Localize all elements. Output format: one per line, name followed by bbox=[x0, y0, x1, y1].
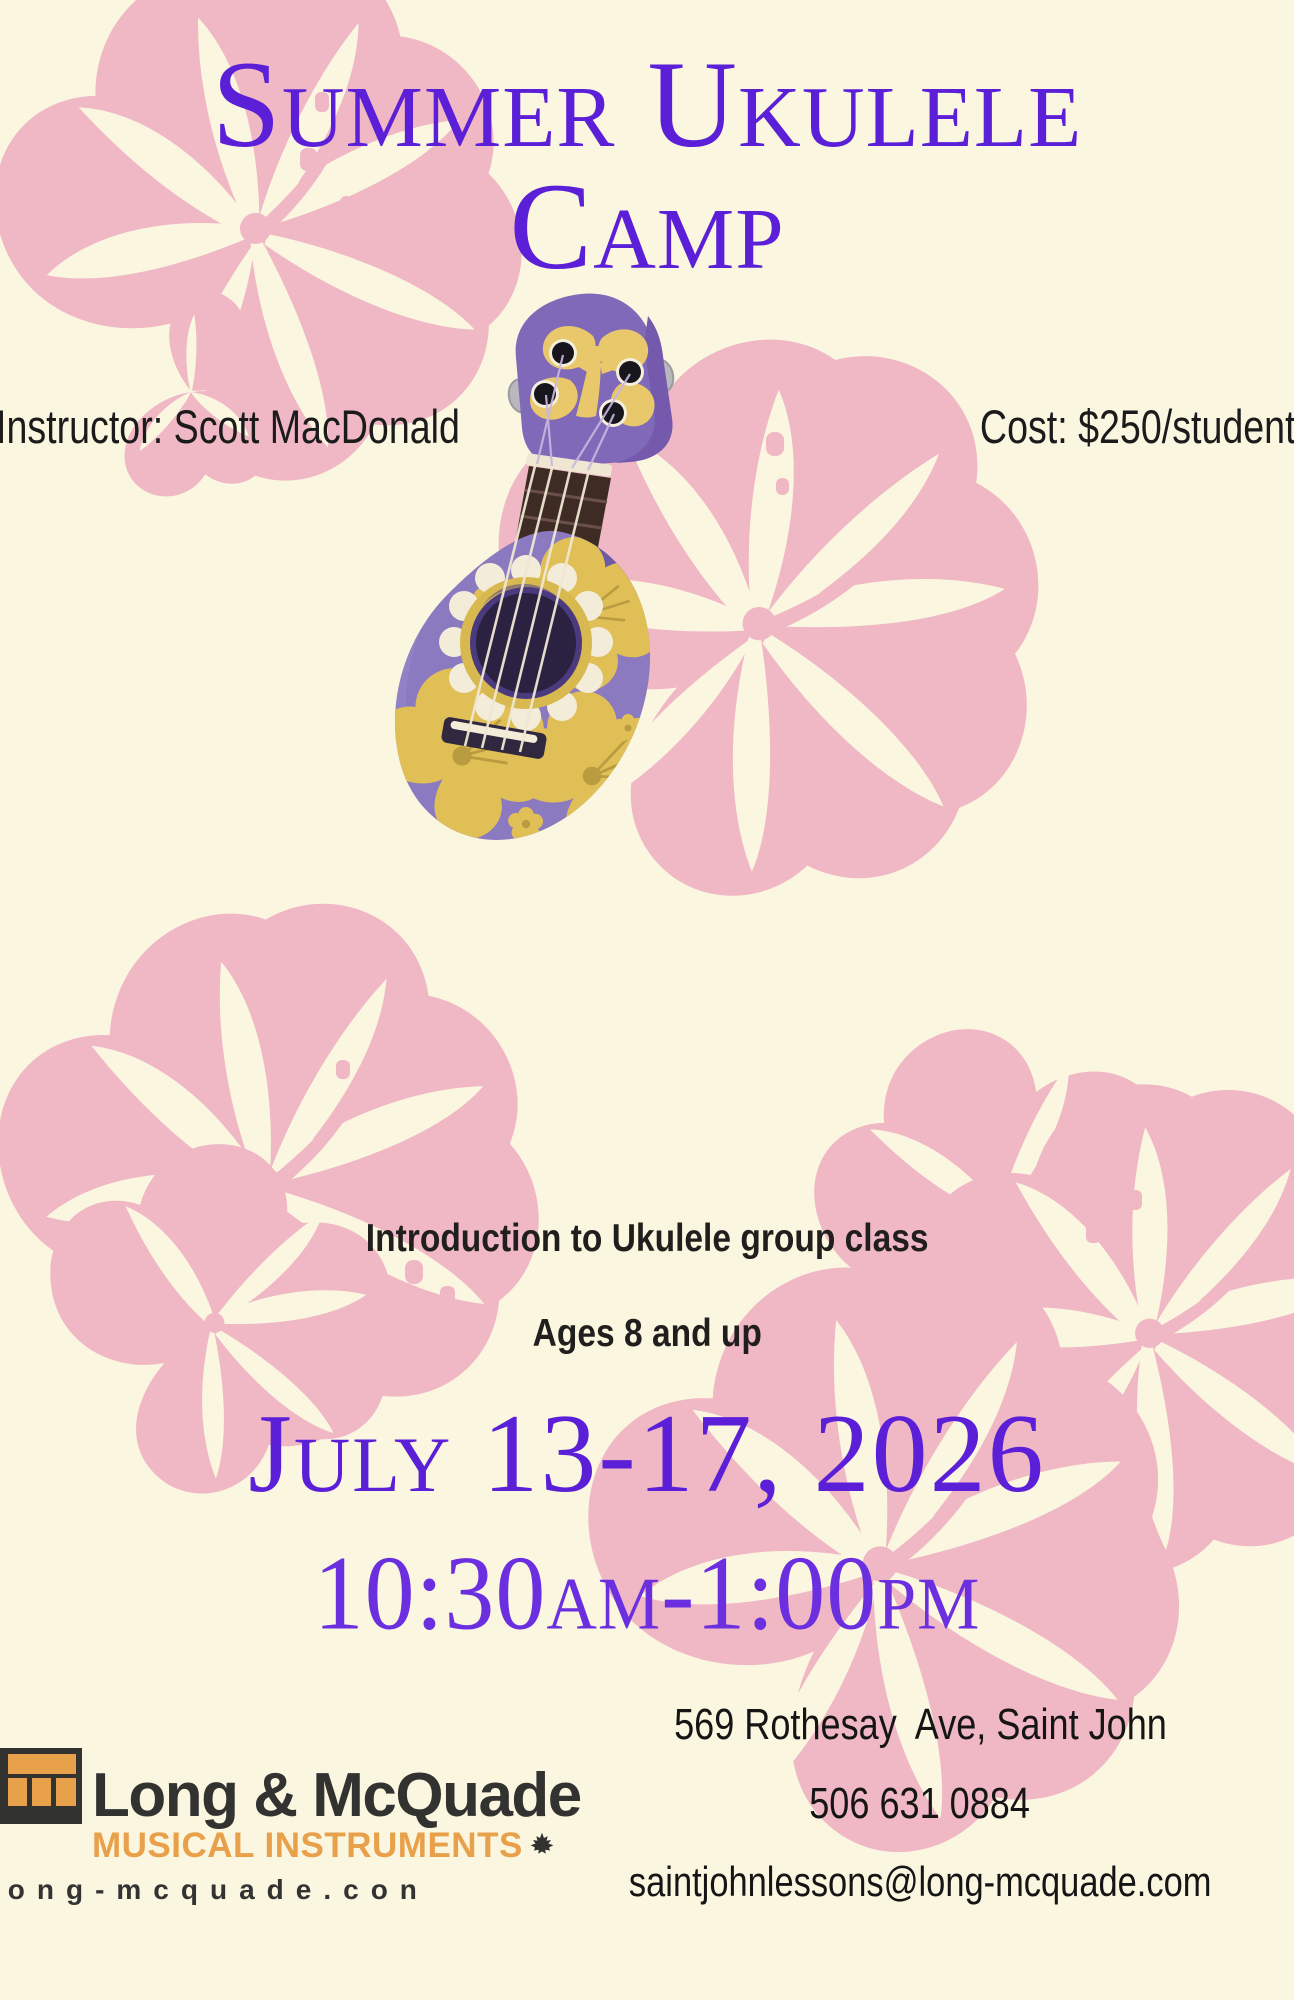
email-text[interactable]: saintjohnlessons@long-mcquade.com bbox=[629, 1858, 1211, 1906]
page-title: Summer Ukulele Camp bbox=[0, 44, 1294, 287]
logo-tagline: MUSICAL INSTRUMENTS bbox=[92, 1826, 523, 1866]
logo-wordmark: Long & McQuade bbox=[92, 1767, 581, 1824]
class-description-line: Introduction to Ukulele group class bbox=[0, 1217, 1294, 1261]
logo-website-url[interactable]: long-mcquade.con bbox=[0, 1874, 474, 1906]
age-requirement-text: Ages 8 and up bbox=[532, 1312, 761, 1356]
maple-leaf-icon bbox=[529, 1831, 555, 1861]
phone-line: 506 631 0884 bbox=[550, 1779, 1290, 1829]
email-line: saintjohnlessons@long-mcquade.com bbox=[550, 1858, 1290, 1906]
class-description-text: Introduction to Ukulele group class bbox=[366, 1217, 929, 1261]
instructor-label: Instructor: Scott MacDonald bbox=[0, 399, 460, 454]
poster: Summer Ukulele Camp Instructor: Scott Ma… bbox=[0, 0, 1294, 2000]
long-mcquade-mark-icon bbox=[0, 1748, 82, 1824]
address-text: 569 Rothesay Ave, Saint John bbox=[674, 1700, 1167, 1750]
address-line: 569 Rothesay Ave, Saint John bbox=[550, 1700, 1290, 1750]
camp-time: 10:30am-1:00pm bbox=[0, 1532, 1294, 1647]
age-requirement-line: Ages 8 and up bbox=[0, 1312, 1294, 1356]
camp-dates: July 13-17, 2026 bbox=[0, 1390, 1294, 1519]
camp-time-text: 10:30am-1:00pm bbox=[314, 1532, 981, 1654]
phone-text[interactable]: 506 631 0884 bbox=[810, 1779, 1031, 1829]
long-mcquade-logo: Long & McQuade MUSICAL INSTRUMENTS long-… bbox=[0, 1748, 474, 1908]
cost-label: Cost: $250/student bbox=[980, 399, 1294, 454]
details-row: Instructor: Scott MacDonald Cost: $250/s… bbox=[0, 399, 1294, 455]
